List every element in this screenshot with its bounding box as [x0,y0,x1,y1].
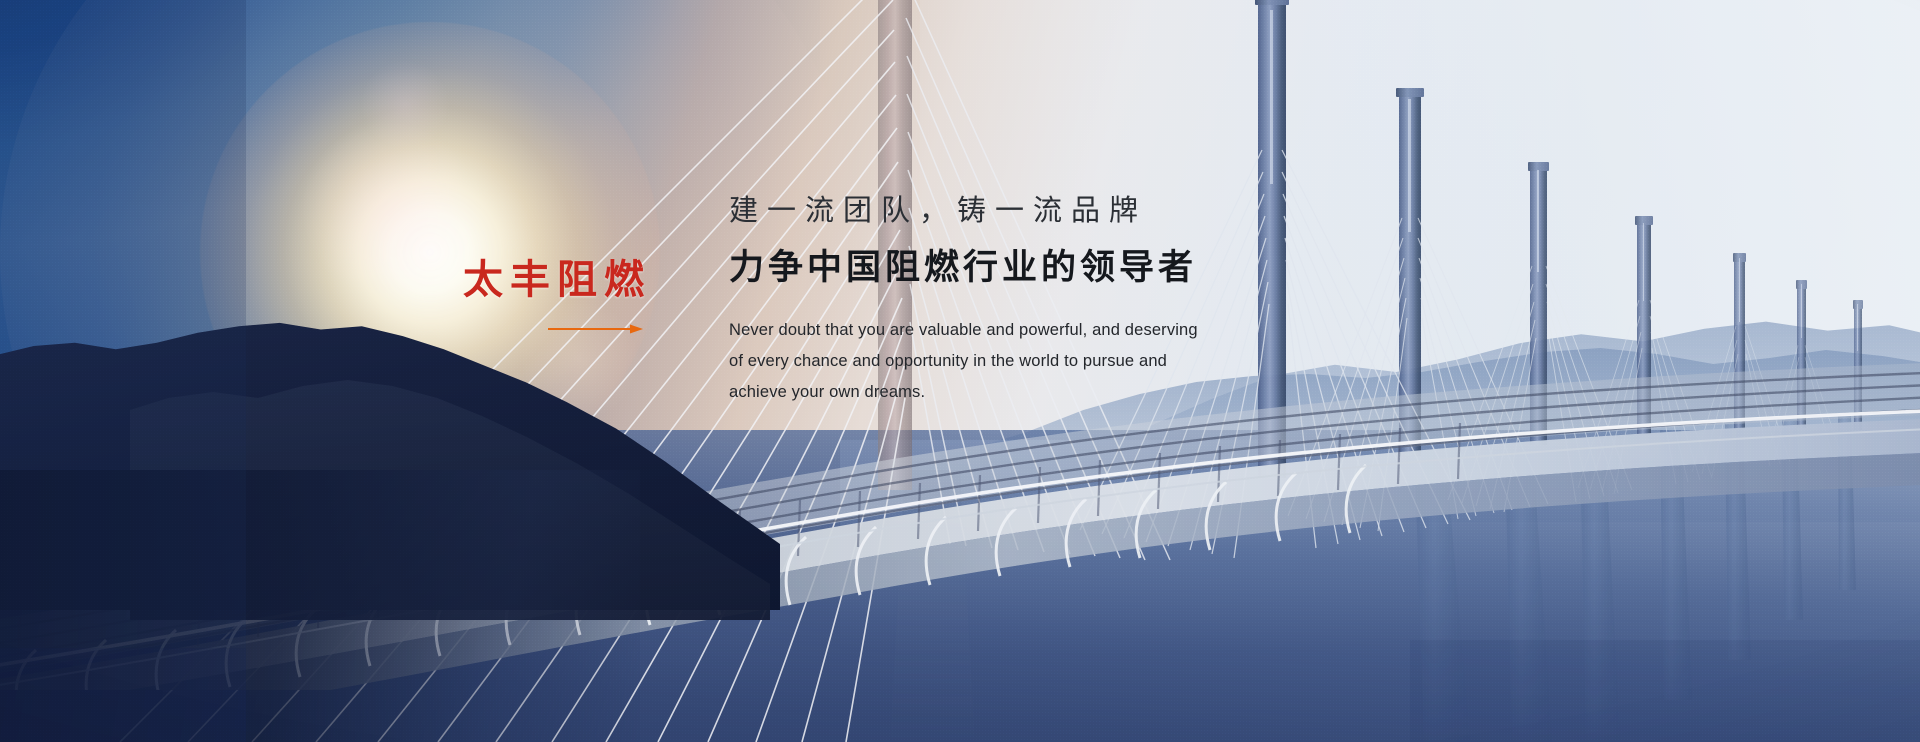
lede-line-1: Never doubt that you are valuable and po… [729,315,1289,346]
subheadline: 建一流团队，铸一流品牌 [729,192,1369,228]
arrow-right-icon [546,322,646,336]
lede-line-3: achieve your own dreams. [729,377,1289,408]
headline-copy-block: 建一流团队，铸一流品牌 力争中国阻燃行业的领导者 Never doubt tha… [729,192,1369,408]
lede-paragraph: Never doubt that you are valuable and po… [729,315,1289,408]
lede-line-2: of every chance and opportunity in the w… [729,346,1289,377]
hero-banner: 太丰阻燃 建一流团队，铸一流品牌 力争中国阻燃行业的领导者 Never doub… [0,0,1920,742]
banner-content: 太丰阻燃 建一流团队，铸一流品牌 力争中国阻燃行业的领导者 Never doub… [0,0,1920,742]
headline: 力争中国阻燃行业的领导者 [729,247,1369,289]
brand-logo[interactable]: 太丰阻燃 [463,260,743,300]
brand-logo-text: 太丰阻燃 [463,260,743,300]
